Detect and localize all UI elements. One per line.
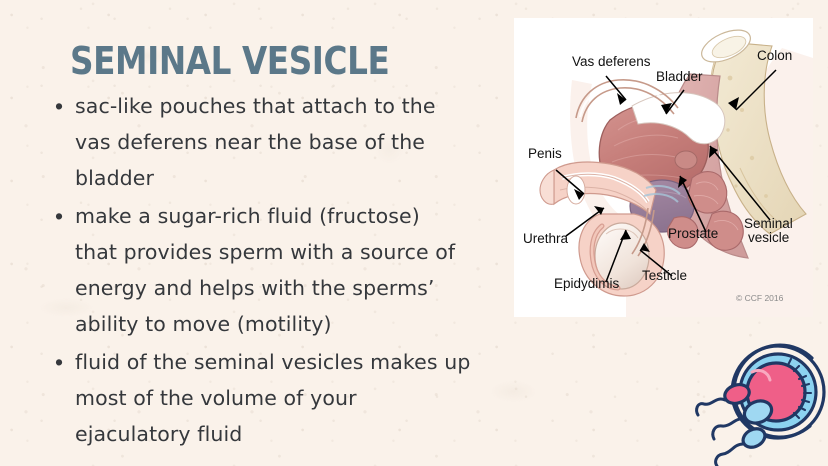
list-item: • fluid of the seminal vesicles makes up… (50, 344, 500, 452)
copyright-notice: © CCF 2016 (736, 293, 784, 303)
label-penis: Penis (528, 146, 562, 161)
sperm-blue-lower (716, 425, 768, 466)
label-testicle: Testicle (642, 268, 687, 283)
bullet-line: that provides sperm with a source of (75, 234, 500, 270)
list-item-text: make a sugar-rich fluid (fructose) that … (75, 198, 500, 342)
bullet-marker: • (50, 344, 75, 380)
label-colon: Colon (757, 48, 792, 63)
bullet-line: make a sugar-rich fluid (fructose) (75, 198, 500, 234)
bullet-line: fluid of the seminal vesicles makes up (75, 344, 500, 380)
label-bladder: Bladder (656, 69, 703, 84)
label-epidydimis: Epidydimis (554, 276, 620, 291)
label-seminal-vesicle-line2: vesicle (748, 230, 789, 245)
bullet-line: bladder (75, 160, 500, 196)
bullet-marker: • (50, 88, 75, 124)
bullet-marker: • (50, 198, 75, 234)
page-title: SEMINAL VESICLE (70, 40, 389, 82)
label-seminal-vesicle-line1: Seminal (744, 216, 793, 231)
list-item: • sac-like pouches that attach to the va… (50, 88, 500, 196)
bullet-line: energy and helps with the sperms’ (75, 270, 500, 306)
bullet-line: most of the volume of your (75, 380, 500, 416)
list-item-text: sac-like pouches that attach to the vas … (75, 88, 500, 196)
anatomy-diagram-image: Vas deferens Bladder Colon Penis Urethra… (514, 18, 813, 317)
sperm-fertilizing-egg-illustration (686, 334, 826, 466)
bullet-list: • sac-like pouches that attach to the va… (50, 88, 500, 454)
bullet-line: ability to move (motility) (75, 306, 500, 342)
list-item: • make a sugar-rich fluid (fructose) tha… (50, 198, 500, 342)
label-vas-deferens: Vas deferens (572, 54, 651, 69)
bullet-line: sac-like pouches that attach to the (75, 88, 500, 124)
slide-canvas: SEMINAL VESICLE • sac-like pouches that … (0, 0, 828, 466)
bullet-line: vas deferens near the base of the (75, 124, 500, 160)
label-urethra: Urethra (523, 231, 569, 246)
list-item-text: fluid of the seminal vesicles makes up m… (75, 344, 500, 452)
bullet-line: ejaculatory fluid (75, 416, 500, 452)
label-prostate: Prostate (668, 226, 718, 241)
